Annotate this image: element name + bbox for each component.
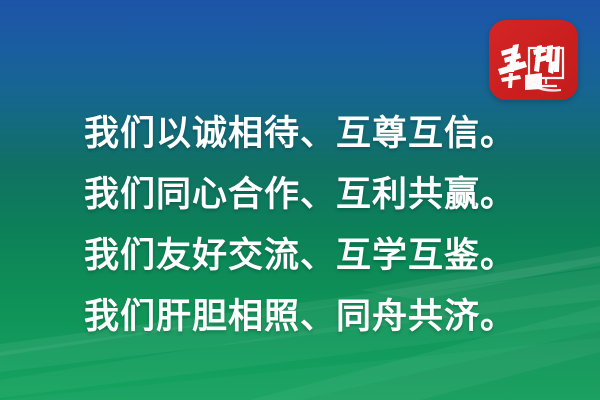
slogan-line-4: 我们肝胆相照、同舟共济。 xyxy=(0,287,600,348)
slogan-line-1: 我们以诚相待、互尊互信。 xyxy=(0,104,600,165)
jinguan-zhongguo-logo xyxy=(489,20,578,100)
slogan-block: 我们以诚相待、互尊互信。 我们同心合作、互利共赢。 我们友好交流、互学互鉴。 我… xyxy=(0,104,600,348)
slogan-line-2: 我们同心合作、互利共赢。 xyxy=(0,165,600,226)
poster-canvas: 我们以诚相待、互尊互信。 我们同心合作、互利共赢。 我们友好交流、互学互鉴。 我… xyxy=(0,0,600,400)
slogan-line-3: 我们友好交流、互学互鉴。 xyxy=(0,226,600,287)
